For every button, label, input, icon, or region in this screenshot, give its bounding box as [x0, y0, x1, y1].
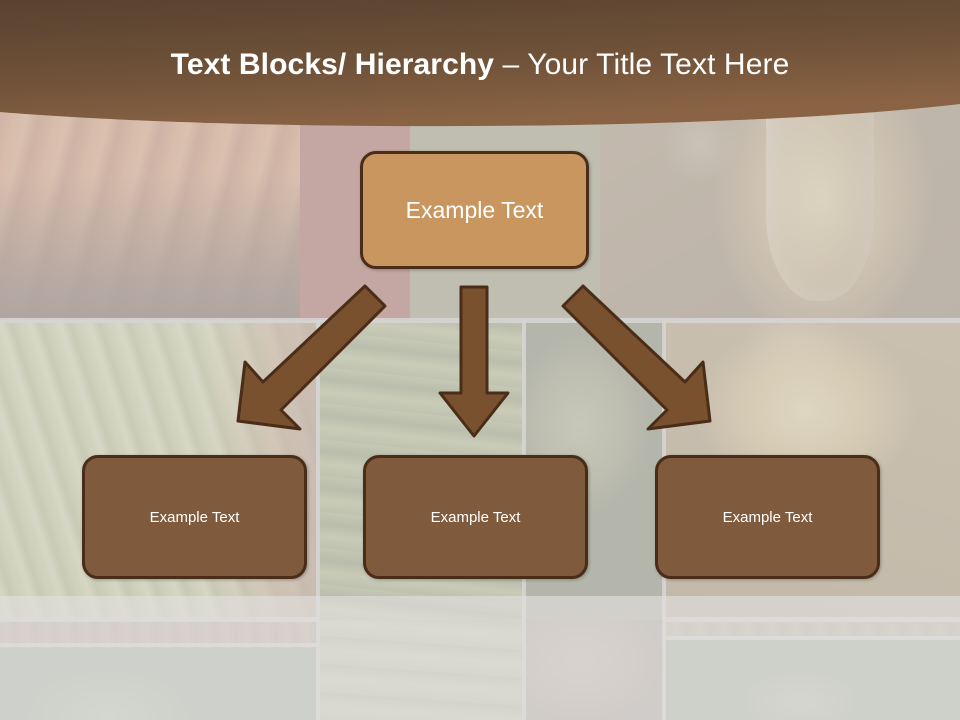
parent-node-label: Example Text [406, 197, 544, 224]
child-node-center-label: Example Text [431, 509, 521, 526]
child-node-right-label: Example Text [723, 509, 813, 526]
collage-divider [0, 318, 960, 323]
collage-divider [664, 636, 960, 640]
title-banner: Text Blocks/ Hierarchy – Your Title Text… [0, 0, 960, 140]
photo-vegetable-basket [0, 648, 318, 720]
photo-clay-pot [524, 620, 664, 720]
child-node-center[interactable]: Example Text [363, 455, 588, 579]
page-title-light: Your Title Text Here [527, 48, 789, 81]
photo-asparagus-bundle [318, 620, 524, 720]
collage-divider [0, 643, 318, 647]
page-title-separator: – [494, 48, 527, 81]
page-title: Text Blocks/ Hierarchy – Your Title Text… [0, 46, 960, 84]
child-node-left[interactable]: Example Text [82, 455, 307, 579]
page-title-bold: Text Blocks/ Hierarchy [171, 48, 494, 81]
parent-node[interactable]: Example Text [360, 151, 589, 269]
collage-divider [316, 320, 320, 720]
child-node-left-label: Example Text [150, 509, 240, 526]
collage-divider [0, 617, 318, 622]
child-node-right[interactable]: Example Text [655, 455, 880, 579]
slide-canvas: Text Blocks/ Hierarchy – Your Title Text… [0, 0, 960, 720]
photo-herb-leaves [664, 640, 960, 720]
collage-divider [664, 617, 960, 622]
